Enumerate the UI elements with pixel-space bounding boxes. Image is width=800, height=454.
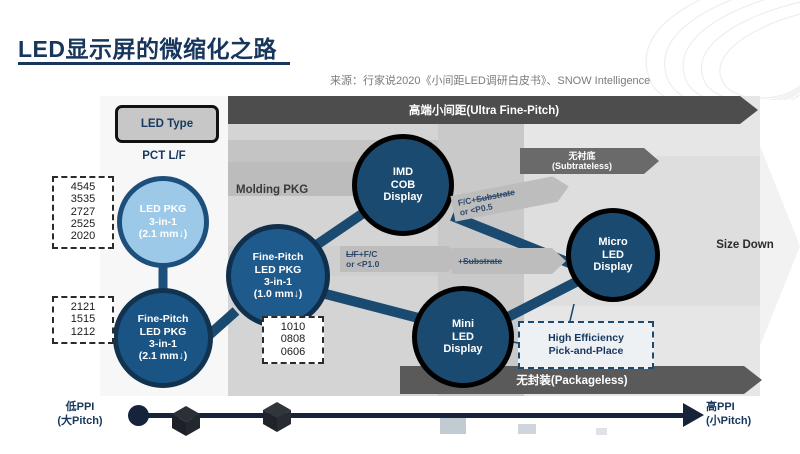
legend-led-type: LED Type xyxy=(115,105,219,143)
callout-high-efficiency: High Efficiency Pick-and-Place xyxy=(518,321,654,369)
node-led-pkg-line3: (2.1 mm↓) xyxy=(139,228,187,240)
pct-size-2: 3535 xyxy=(60,193,106,205)
numbox-pct-sizes: 4545 3535 2727 2525 2020 xyxy=(52,176,114,249)
sub-strike: Substrate xyxy=(463,256,502,266)
ppi-axis-line xyxy=(140,413,685,418)
node-led-pkg-line1: LED PKG xyxy=(140,203,187,215)
package-chip-small-icon xyxy=(440,418,466,434)
substrateless-en: (Subtrateless) xyxy=(552,161,612,171)
ribbon-substrateless-label: 无衬底 (Subtrateless) xyxy=(520,148,644,174)
mold-size-2: 0808 xyxy=(270,333,316,345)
ribbon-substrateless-tip xyxy=(644,148,659,174)
ribbon-substrateless: 无衬底 (Subtrateless) xyxy=(520,148,644,174)
node-fp10-line1: Fine-Pitch xyxy=(253,251,304,263)
package-cube-medium-icon xyxy=(258,398,296,436)
package-cube-large-icon xyxy=(168,404,204,438)
mold-size-3: 0606 xyxy=(270,346,316,358)
transition-sub-text: +Substrate xyxy=(458,248,502,274)
pct-size-5: 2020 xyxy=(60,230,106,242)
package-chip-tiny-icon xyxy=(518,424,536,434)
ribbon-top-label: 高端小间距(Ultra Fine-Pitch) xyxy=(228,96,740,124)
pct-size-4: 2525 xyxy=(60,218,106,230)
node-fine-pitch-2-1[interactable]: Fine-Pitch LED PKG 3-in-1 (2.1 mm↓) xyxy=(113,288,213,388)
node-fp10-line2: LED PKG xyxy=(255,264,302,276)
node-fine-pitch-1-0[interactable]: Fine-Pitch LED PKG 3-in-1 (1.0 mm↓) xyxy=(226,224,330,328)
fp-size-3: 1212 xyxy=(60,326,106,338)
axis-right-line2: (小Pitch) xyxy=(706,414,792,428)
mold-size-1: 1010 xyxy=(270,321,316,333)
node-led-pkg[interactable]: LED PKG 3-in-1 (2.1 mm↓) xyxy=(117,176,209,268)
lf-line2: or <P1.0 xyxy=(346,259,379,269)
ribbon-ultra-fine-pitch: 高端小间距(Ultra Fine-Pitch) xyxy=(228,96,740,124)
node-fp21-line1: Fine-Pitch xyxy=(138,313,189,325)
node-micro-line3: Display xyxy=(593,261,632,274)
pct-size-1: 4545 xyxy=(60,181,106,193)
node-mini-led-display[interactable]: Mini LED Display xyxy=(412,286,514,388)
substrateless-cn: 无衬底 xyxy=(568,151,595,161)
transition-lf-text: L/F+F/C or <P1.0 xyxy=(346,246,379,272)
fp-size-1: 2121 xyxy=(60,301,106,313)
page-title: LED显示屏的微缩化之路 xyxy=(18,30,277,64)
diagram-board: 高端小间距(Ultra Fine-Pitch) 无封装(Packageless)… xyxy=(100,96,800,396)
column-label-molding: Molding PKG xyxy=(236,184,356,196)
package-chip-micro-icon xyxy=(596,428,607,435)
ppi-axis-arrow-icon xyxy=(683,403,704,427)
node-micro-led-display[interactable]: Micro LED Display xyxy=(566,208,660,302)
node-imd-cob-display[interactable]: IMD COB Display xyxy=(352,134,454,236)
node-led-pkg-line2: 3-in-1 xyxy=(149,216,177,228)
high-efficiency-line2: Pick-and-Place xyxy=(549,345,624,358)
high-efficiency-line1: High Efficiency xyxy=(548,332,624,345)
transition-plus-substrate: +Substrate xyxy=(452,248,552,274)
axis-left-line1: 低PPI xyxy=(36,400,124,414)
node-imd-line2: COB xyxy=(391,179,415,192)
source-attribution: 来源：行家说2020《小间距LED调研白皮书》、SNOW Intelligenc… xyxy=(330,72,750,88)
node-micro-line2: LED xyxy=(602,249,624,262)
node-fp21-line3: 3-in-1 xyxy=(149,338,177,350)
axis-right-line1: 高PPI xyxy=(706,400,792,414)
numbox-fine-pitch-sizes: 2121 1515 1212 xyxy=(52,296,114,344)
column-label-pct: PCT L/F xyxy=(115,150,213,162)
node-mini-line2: LED xyxy=(452,331,474,344)
transition-lf-fc: L/F+F/C or <P1.0 xyxy=(340,246,448,272)
label-size-down: Size Down xyxy=(700,239,790,251)
ppi-axis-start-dot xyxy=(128,405,149,426)
node-fp21-line2: LED PKG xyxy=(140,326,187,338)
axis-label-high-ppi: 高PPI (小Pitch) xyxy=(706,400,792,429)
node-micro-line1: Micro xyxy=(598,236,627,249)
fp-size-2: 1515 xyxy=(60,313,106,325)
numbox-molding-sizes: 1010 0808 0606 xyxy=(262,316,324,364)
lf-plain: +F/C xyxy=(359,249,378,259)
lf-strike: L/F xyxy=(346,249,359,259)
slide-root: LED显示屏的微缩化之路 来源：行家说2020《小间距LED调研白皮书》、SNO… xyxy=(0,0,800,454)
node-fp10-line3: 3-in-1 xyxy=(264,276,292,288)
node-mini-line1: Mini xyxy=(452,318,474,331)
node-fp10-line4: (1.0 mm↓) xyxy=(254,288,302,300)
node-imd-line1: IMD xyxy=(393,166,413,179)
ribbon-bottom-tip xyxy=(744,366,762,394)
node-imd-line3: Display xyxy=(383,191,422,204)
axis-left-line2: (大Pitch) xyxy=(36,414,124,428)
node-fp21-line4: (2.1 mm↓) xyxy=(139,350,187,362)
axis-label-low-ppi: 低PPI (大Pitch) xyxy=(36,400,124,429)
pct-size-3: 2727 xyxy=(60,206,106,218)
title-underline xyxy=(18,62,290,65)
transition-sub-tip xyxy=(552,248,566,274)
ribbon-top-tip xyxy=(740,96,758,124)
node-mini-line3: Display xyxy=(443,343,482,356)
